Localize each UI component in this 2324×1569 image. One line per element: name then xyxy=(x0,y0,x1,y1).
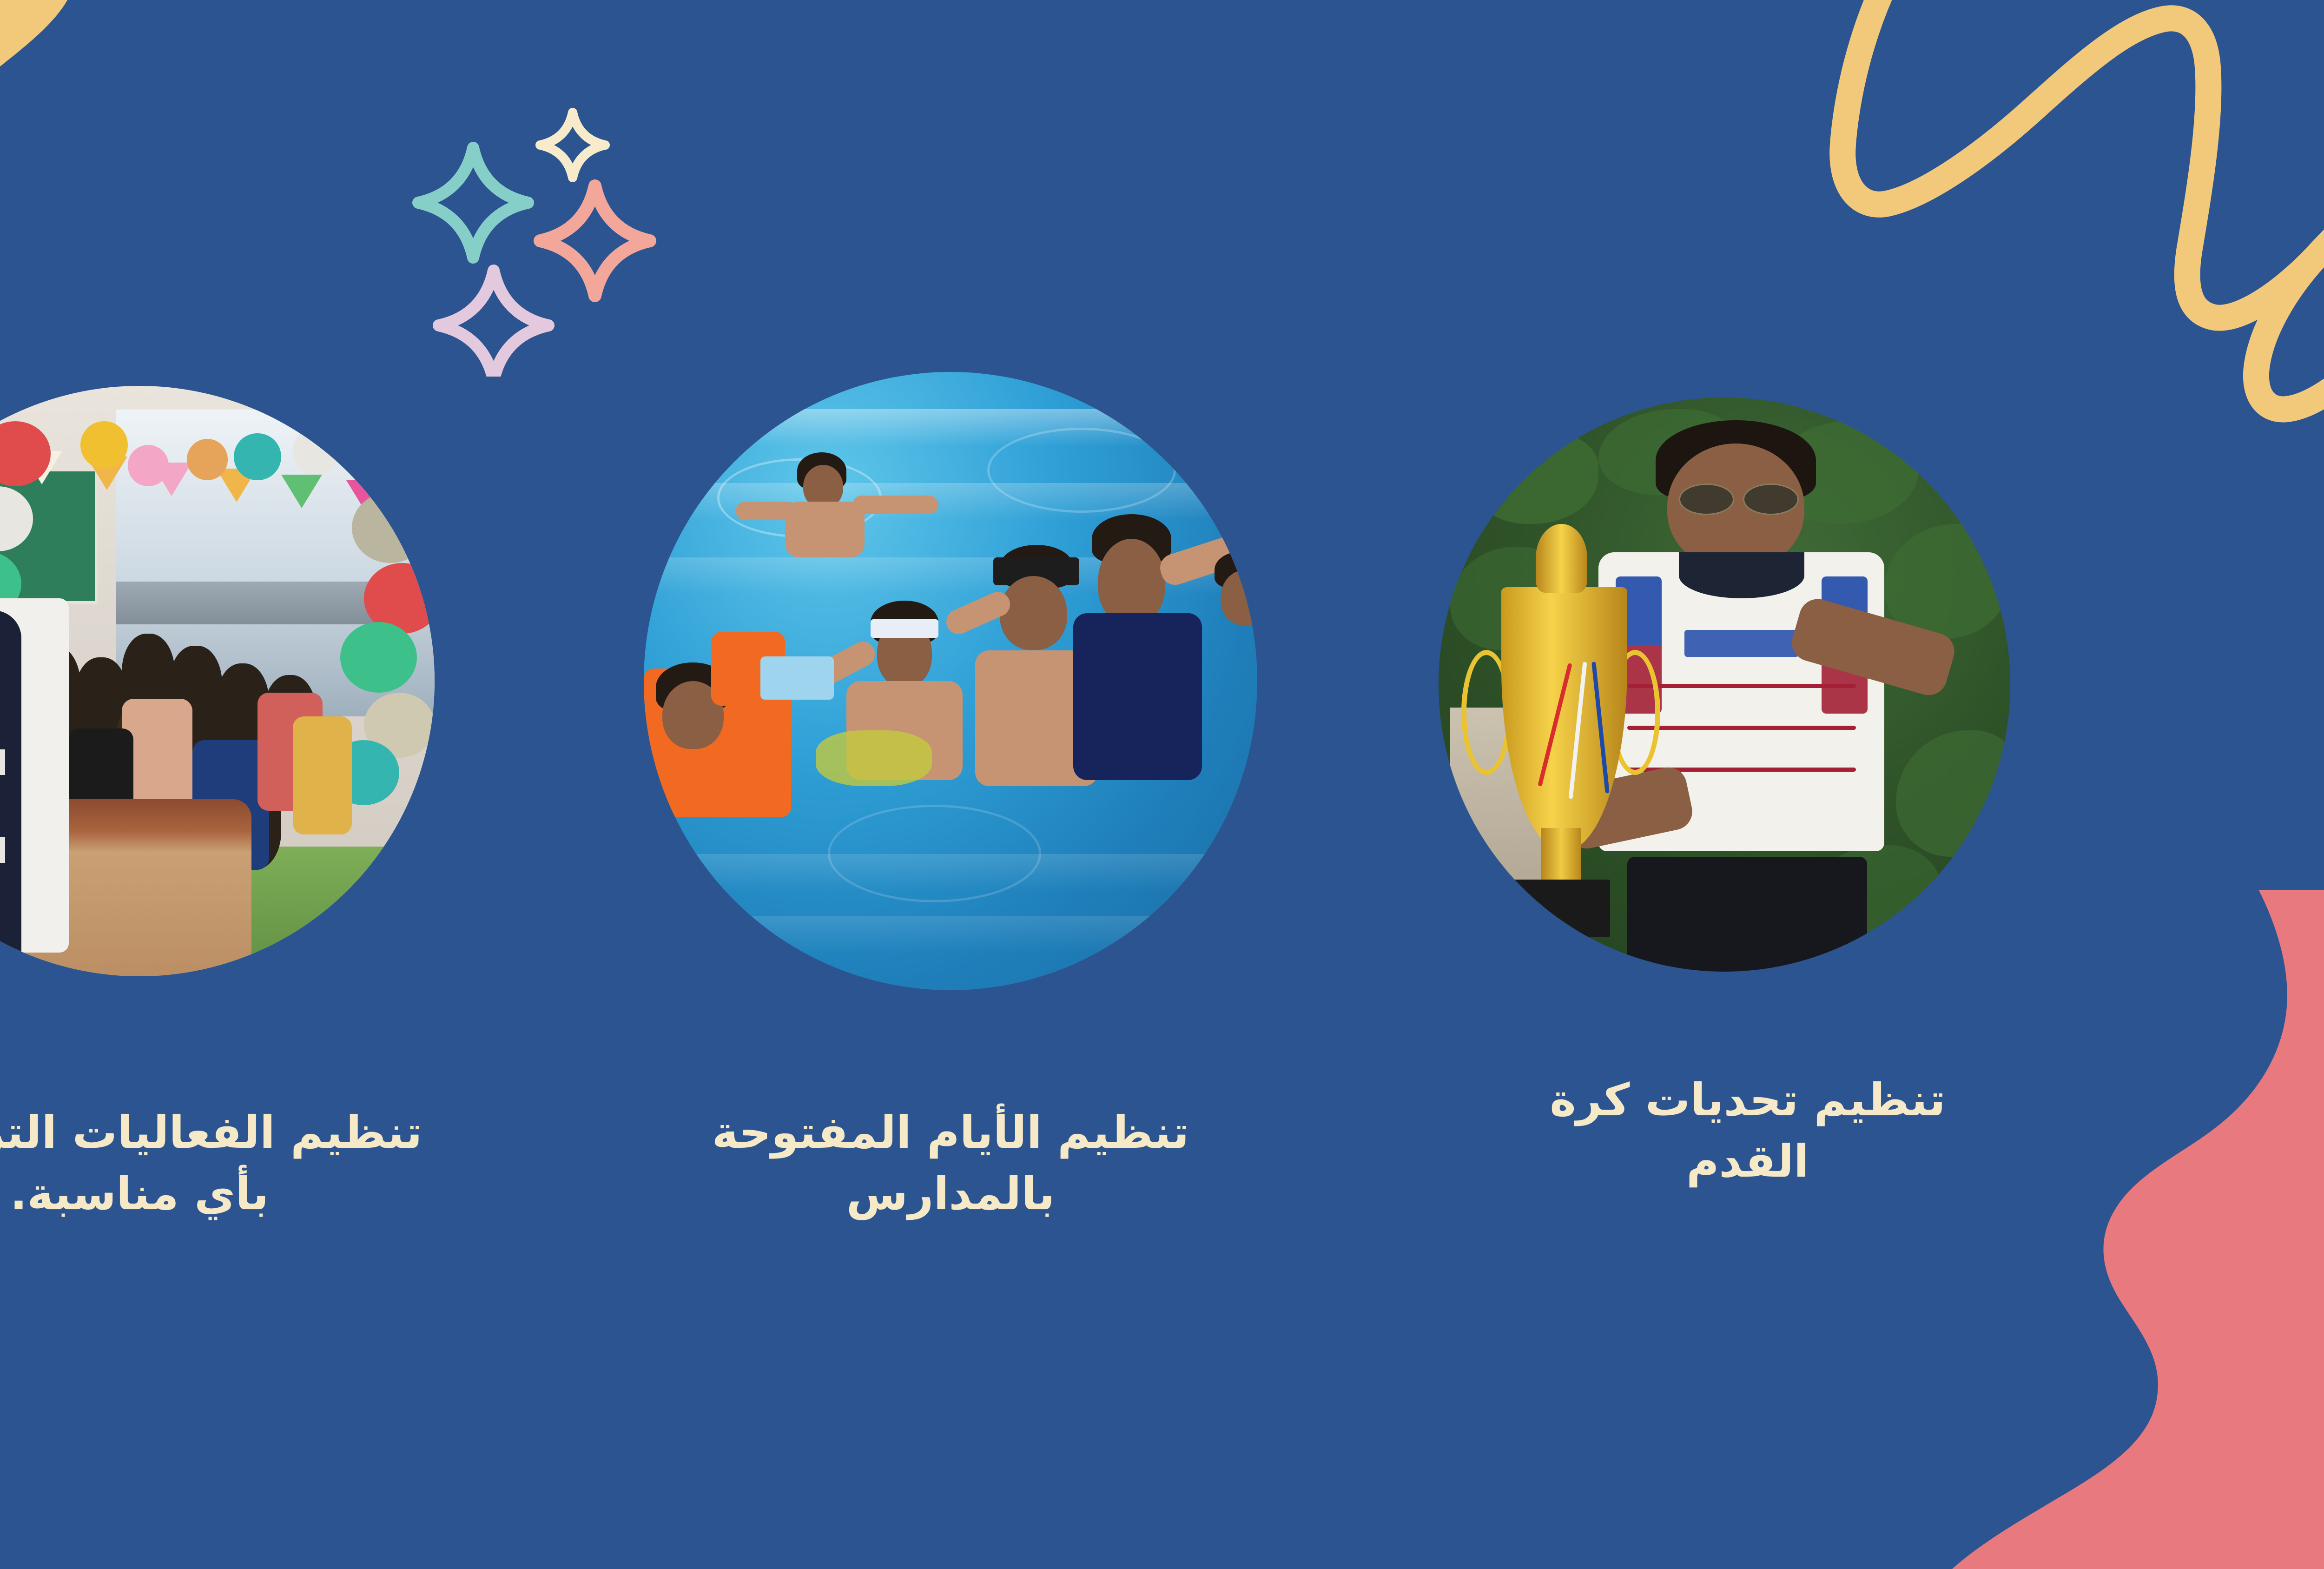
photo-entertainment-event xyxy=(0,386,435,976)
slide-canvas: تنظيم الفعاليات الترفيهية بأي مناسبة. xyxy=(0,0,2324,1569)
photo-football-challenge xyxy=(1439,397,2010,972)
card-caption-2: تنظيم الأيام المفتوحة بالمدارس xyxy=(665,1102,1236,1225)
card-caption-1: تنظيم الفعاليات الترفيهية بأي مناسبة. xyxy=(0,1102,493,1225)
card-caption-3: تنظيم تحديات كرة القدم xyxy=(1501,1069,1994,1192)
feature-card-row: تنظيم الفعاليات الترفيهية بأي مناسبة. xyxy=(0,0,2324,1569)
photo-school-open-day xyxy=(644,372,1257,990)
